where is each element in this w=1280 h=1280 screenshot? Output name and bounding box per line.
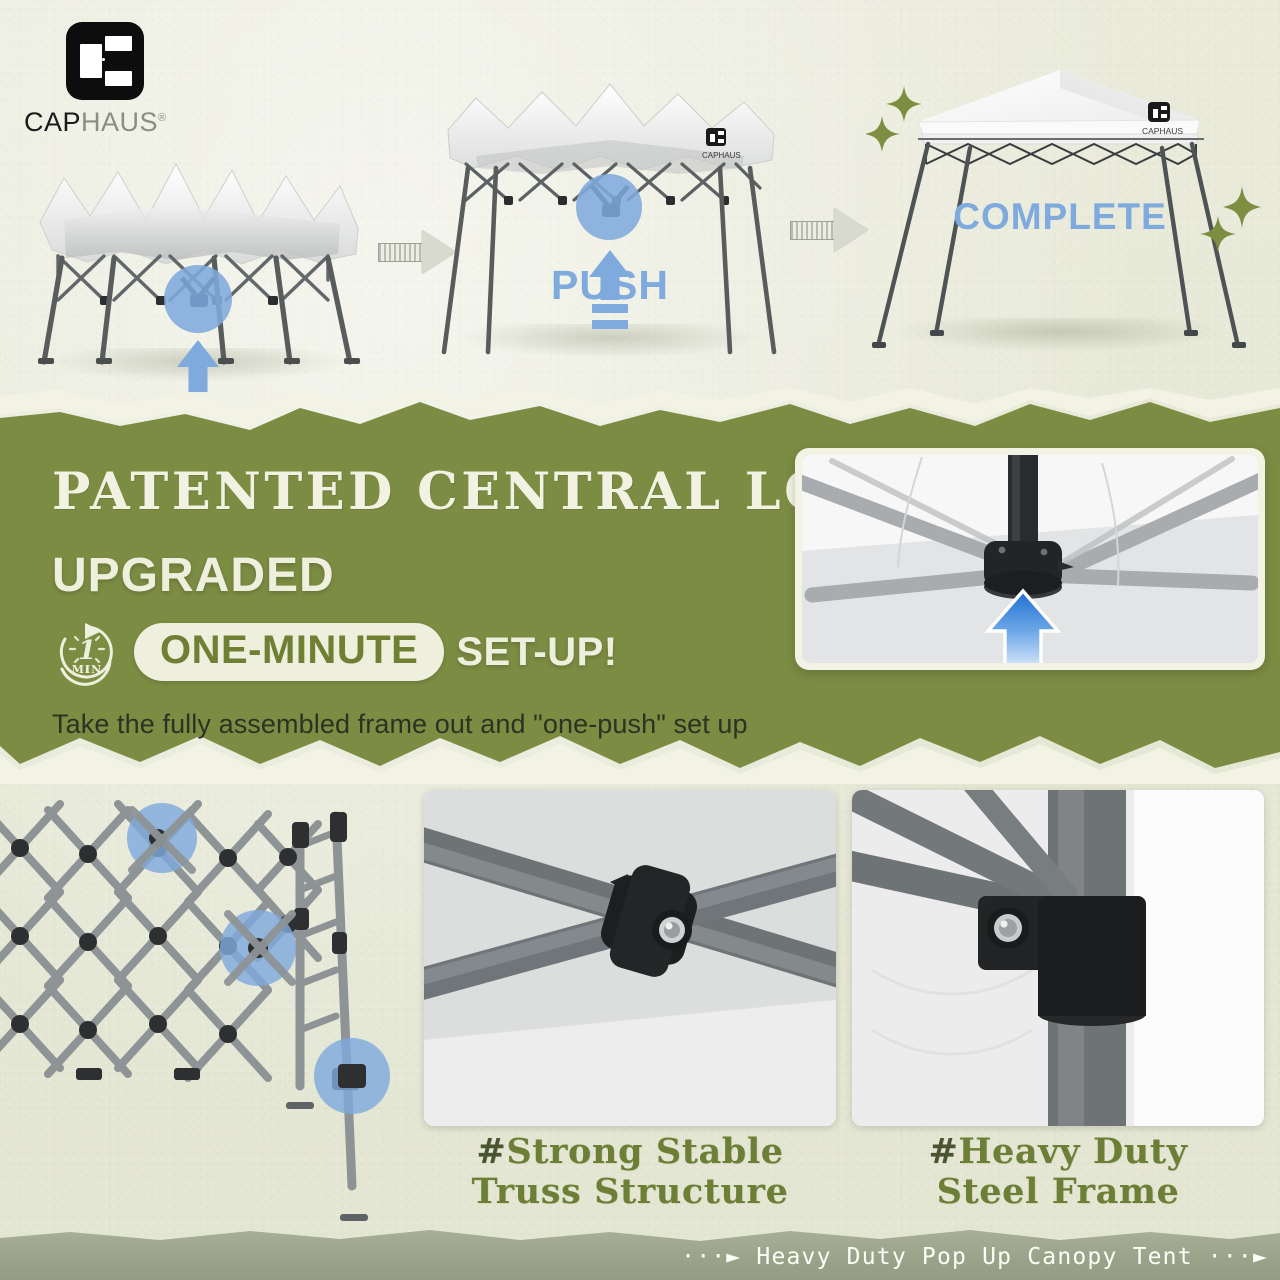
steel-leg-bracket-closeup: [852, 790, 1264, 1126]
folding-frame-illustration: [0, 786, 410, 1226]
brand-wordmark: CAPHAUS®: [24, 107, 204, 138]
svg-text:CAPHAUS: CAPHAUS: [702, 151, 741, 160]
clock-unit: MIN: [72, 663, 102, 676]
blue-circle-highlight: [576, 174, 642, 240]
truss-caption-line1: Strong Stable: [506, 1131, 783, 1172]
hashtag-symbol: #: [928, 1131, 958, 1172]
setup-label: SET-UP!: [456, 630, 617, 675]
leg-caption-line2: Steel Frame: [937, 1171, 1180, 1212]
hashtag-symbol: #: [476, 1131, 506, 1172]
leg-caption: #Heavy Duty Steel Frame: [836, 1132, 1280, 1211]
central-lock-illustration: [802, 455, 1258, 663]
banner-upgraded-label: UPGRADED: [52, 548, 772, 603]
banner-copy: PATENTED CENTRAL LOCK UPGRADED 1 MI: [52, 462, 772, 740]
banner-headline: PATENTED CENTRAL LOCK: [52, 462, 772, 522]
caphaus-monogram-icon: [66, 22, 144, 100]
truss-joint-closeup: [424, 790, 836, 1126]
four-point-sparkle-icon: [866, 82, 926, 154]
push-label: PUSH: [430, 262, 790, 309]
folding-truss-frame: [0, 786, 410, 1226]
complete-label: COMPLETE: [860, 196, 1260, 238]
infographic-page: CAPHAUS®: [0, 0, 1280, 1280]
step-collapsed-canopy: [18, 150, 378, 380]
truss-caption-line2: Truss Structure: [472, 1171, 789, 1212]
truss-caption: #Strong Stable Truss Structure: [408, 1132, 852, 1211]
leg-caption-line1: Heavy Duty: [958, 1131, 1187, 1172]
central-lock-closeup: [795, 448, 1265, 670]
registered-mark: ®: [158, 112, 167, 124]
brand-name-light: HAUS: [81, 107, 158, 137]
svg-text:CAPHAUS: CAPHAUS: [1142, 126, 1183, 136]
one-minute-pill: ONE-MINUTE: [134, 623, 444, 681]
banner-subtitle: Take the fully assembled frame out and "…: [52, 709, 772, 740]
brand-name-bold: CAP: [24, 107, 81, 137]
one-minute-row: 1 MIN ONE-MINUTE SET-UP!: [52, 617, 772, 687]
blue-up-arrow-icon: [174, 340, 222, 392]
footer-product-text: ···► Heavy Duty Pop Up Canopy Tent ···►: [681, 1244, 1268, 1270]
setup-steps-section: CAPHAUS®: [0, 0, 1280, 400]
brand-logo: CAPHAUS®: [24, 22, 204, 138]
step-push-canopy: CAPHAUS: [430, 78, 790, 378]
one-minute-clock-icon: 1 MIN: [52, 617, 122, 687]
clock-number: 1: [78, 636, 96, 666]
blue-circle-highlight: [164, 265, 232, 333]
hatched-right-arrow-icon: [790, 208, 868, 252]
